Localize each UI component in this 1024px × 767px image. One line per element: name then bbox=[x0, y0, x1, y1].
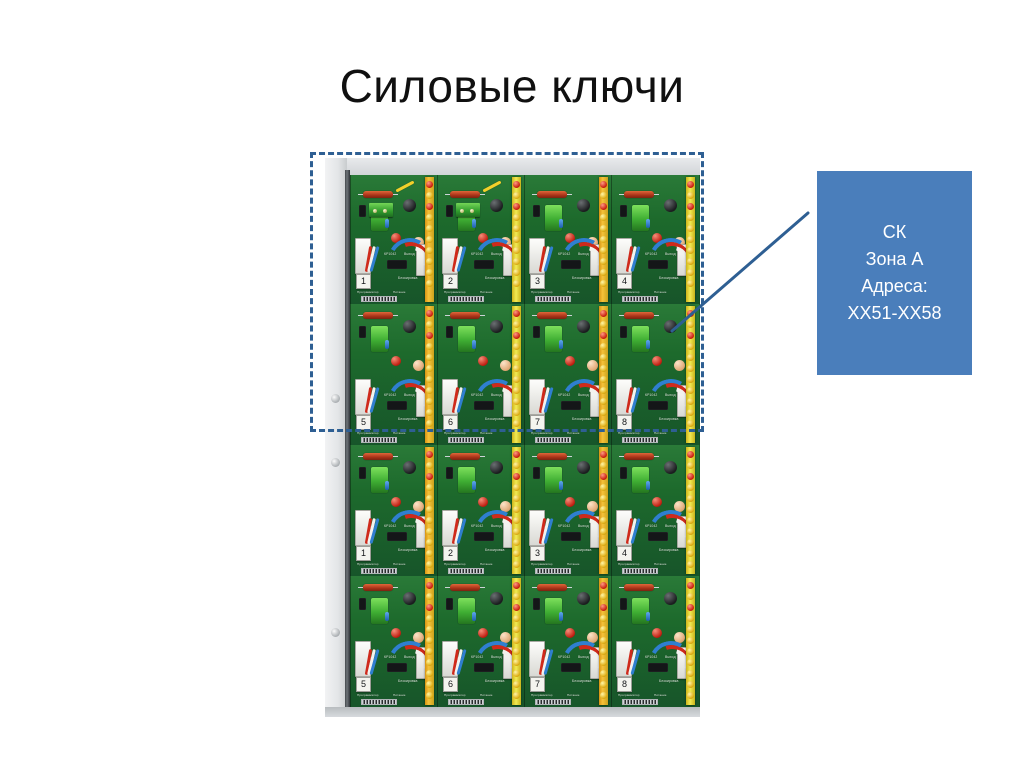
electrolytic-capacitor bbox=[403, 199, 416, 212]
silkscreen-blocking-label: Блокировка bbox=[398, 417, 417, 421]
silkscreen-blocking-label: Блокировка bbox=[485, 548, 504, 552]
terminal-strip bbox=[425, 447, 434, 574]
terminal-contact bbox=[600, 539, 607, 546]
terminal-contact bbox=[426, 420, 433, 427]
silkscreen-output-label: Выход bbox=[578, 252, 589, 256]
terminal-contact bbox=[687, 517, 694, 524]
ic-chip bbox=[387, 401, 407, 410]
terminal-contact bbox=[513, 181, 520, 188]
silkscreen-blocking-label: Блокировка bbox=[485, 679, 504, 683]
silkscreen-programmer-label: Программатор bbox=[357, 290, 379, 294]
transistor bbox=[533, 598, 540, 610]
red-capacitor bbox=[565, 497, 575, 507]
transistor bbox=[446, 326, 453, 338]
module-number-tag: 5 bbox=[356, 677, 371, 692]
tan-capacitor bbox=[587, 501, 598, 512]
pin-header bbox=[535, 699, 571, 705]
silkscreen-programmer-label: Программатор bbox=[531, 562, 553, 566]
terminal-contact bbox=[513, 517, 520, 524]
terminal-contact bbox=[426, 604, 433, 611]
silkscreen-chip-label: КР1042 bbox=[384, 393, 396, 397]
screw bbox=[331, 628, 340, 637]
terminal-strip bbox=[425, 177, 434, 302]
terminal-contact bbox=[426, 681, 433, 688]
green-terminal-block bbox=[456, 203, 480, 217]
silkscreen-power-label: Питание bbox=[393, 431, 406, 435]
pin-header bbox=[622, 437, 658, 443]
board-panel: 5КР1042ВыходБлокировкаПрограмматорПитани… bbox=[350, 304, 700, 445]
terminal-contact bbox=[426, 539, 433, 546]
red-capacitor bbox=[391, 233, 401, 243]
terminal-contact bbox=[426, 517, 433, 524]
pin-header bbox=[535, 296, 571, 302]
silkscreen-blocking-label: Блокировка bbox=[398, 548, 417, 552]
transistor bbox=[620, 205, 627, 217]
page-title: Силовые ключи bbox=[0, 58, 1024, 114]
terminal-strip bbox=[512, 447, 521, 574]
silkscreen-blocking-label: Блокировка bbox=[572, 679, 591, 683]
board-panel: 5КР1042ВыходБлокировкаПрограмматорПитани… bbox=[350, 576, 700, 707]
pin-header bbox=[448, 699, 484, 705]
resistor bbox=[624, 584, 654, 591]
blue-component bbox=[646, 340, 650, 349]
silkscreen-chip-label: КР1042 bbox=[558, 655, 570, 659]
silkscreen-output-label: Выход bbox=[491, 655, 502, 659]
electrolytic-capacitor bbox=[403, 592, 416, 605]
terminal-contact bbox=[600, 365, 607, 372]
blue-component bbox=[559, 340, 563, 349]
silkscreen-blocking-label: Блокировка bbox=[659, 417, 678, 421]
silkscreen-chip-label: КР1042 bbox=[384, 252, 396, 256]
pin-header bbox=[361, 437, 397, 443]
terminal-contact bbox=[513, 528, 520, 535]
blue-component bbox=[385, 612, 389, 621]
tan-capacitor bbox=[500, 501, 511, 512]
tan-capacitor bbox=[587, 360, 598, 371]
terminal-contact bbox=[513, 462, 520, 469]
silkscreen-programmer-label: Программатор bbox=[444, 431, 466, 435]
blue-component bbox=[646, 612, 650, 621]
terminal-contact bbox=[687, 659, 694, 666]
terminal-contact bbox=[687, 409, 694, 416]
tan-capacitor bbox=[500, 360, 511, 371]
silkscreen-power-label: Питание bbox=[393, 290, 406, 294]
red-capacitor bbox=[478, 356, 488, 366]
silkscreen-power-label: Питание bbox=[393, 562, 406, 566]
terminal-strip bbox=[599, 447, 608, 574]
terminal-contact bbox=[600, 506, 607, 513]
terminal-contact bbox=[687, 506, 694, 513]
pin-header bbox=[535, 568, 571, 574]
terminal-contact bbox=[426, 409, 433, 416]
terminal-contact bbox=[687, 539, 694, 546]
terminal-contact bbox=[513, 236, 520, 243]
terminal-contact bbox=[426, 214, 433, 221]
terminal-contact bbox=[687, 626, 694, 633]
silkscreen-output-label: Выход bbox=[491, 393, 502, 397]
blue-component bbox=[559, 481, 563, 490]
terminal-contact bbox=[426, 626, 433, 633]
red-capacitor bbox=[478, 497, 488, 507]
terminal-contact bbox=[513, 225, 520, 232]
callout-line-3: Адреса: bbox=[847, 273, 941, 300]
terminal-contact bbox=[426, 615, 433, 622]
silkscreen-programmer-label: Программатор bbox=[444, 562, 466, 566]
resistor bbox=[363, 453, 393, 460]
terminal-contact bbox=[687, 593, 694, 600]
terminal-strip bbox=[599, 306, 608, 443]
silkscreen-chip-label: КР1042 bbox=[471, 252, 483, 256]
tan-capacitor bbox=[413, 360, 424, 371]
terminal-contact bbox=[513, 539, 520, 546]
terminal-contact bbox=[687, 582, 694, 589]
terminal-contact bbox=[600, 321, 607, 328]
terminal-contact bbox=[513, 626, 520, 633]
ic-chip bbox=[387, 532, 407, 541]
module-number-tag: 8 bbox=[617, 415, 632, 430]
terminal-contact bbox=[513, 670, 520, 677]
terminal-contact bbox=[513, 376, 520, 383]
silkscreen-chip-label: КР1042 bbox=[384, 524, 396, 528]
silkscreen-programmer-label: Программатор bbox=[618, 693, 640, 697]
silkscreen-programmer-label: Программатор bbox=[444, 290, 466, 294]
module-number-tag: 7 bbox=[530, 415, 545, 430]
terminal-contact bbox=[687, 451, 694, 458]
terminal-contact bbox=[513, 387, 520, 394]
terminal-contact bbox=[426, 192, 433, 199]
tan-capacitor bbox=[413, 501, 424, 512]
pin-header bbox=[448, 437, 484, 443]
silkscreen-programmer-label: Программатор bbox=[357, 431, 379, 435]
terminal-contact bbox=[513, 506, 520, 513]
module-number-tag: 2 bbox=[443, 274, 458, 289]
terminal-contact bbox=[600, 615, 607, 622]
terminal-contact bbox=[600, 484, 607, 491]
module-number-tag: 3 bbox=[530, 274, 545, 289]
silkscreen-power-label: Питание bbox=[567, 693, 580, 697]
resistor bbox=[450, 584, 480, 591]
module-number-tag: 3 bbox=[530, 546, 545, 561]
terminal-contact bbox=[600, 692, 607, 699]
transistor bbox=[446, 205, 453, 217]
terminal-contact bbox=[687, 692, 694, 699]
silkscreen-blocking-label: Блокировка bbox=[659, 548, 678, 552]
terminal-contact bbox=[600, 582, 607, 589]
pin-header bbox=[535, 437, 571, 443]
silkscreen-blocking-label: Блокировка bbox=[572, 276, 591, 280]
power-switch-boards-photo: 1КР1042ВыходБлокировкаПрограмматорПитани… bbox=[325, 158, 700, 717]
blue-component bbox=[385, 219, 389, 228]
screw bbox=[331, 458, 340, 467]
tan-capacitor bbox=[674, 360, 685, 371]
terminal-contact bbox=[600, 354, 607, 361]
terminal-contact bbox=[513, 550, 520, 557]
terminal-contact bbox=[600, 192, 607, 199]
silkscreen-blocking-label: Блокировка bbox=[485, 417, 504, 421]
terminal-contact bbox=[600, 332, 607, 339]
blue-component bbox=[385, 340, 389, 349]
terminal-contact bbox=[426, 473, 433, 480]
terminal-contact bbox=[513, 484, 520, 491]
terminal-contact bbox=[600, 517, 607, 524]
terminal-contact bbox=[426, 236, 433, 243]
blue-component bbox=[646, 481, 650, 490]
silkscreen-chip-label: КР1042 bbox=[471, 524, 483, 528]
blue-component bbox=[646, 219, 650, 228]
terminal-contact bbox=[600, 181, 607, 188]
terminal-contact bbox=[426, 648, 433, 655]
silkscreen-power-label: Питание bbox=[480, 562, 493, 566]
electrolytic-capacitor bbox=[577, 592, 590, 605]
silkscreen-programmer-label: Программатор bbox=[357, 562, 379, 566]
terminal-strip bbox=[599, 177, 608, 302]
resistor bbox=[537, 191, 567, 198]
terminal-contact bbox=[600, 258, 607, 265]
terminal-contact bbox=[513, 692, 520, 699]
terminal-contact bbox=[513, 495, 520, 502]
ic-chip bbox=[561, 401, 581, 410]
terminal-strip bbox=[686, 447, 695, 574]
ic-chip bbox=[474, 401, 494, 410]
zone-a-callout[interactable]: СК Зона А Адреса: XX51-XX58 bbox=[817, 171, 972, 375]
board-panel: 1КР1042ВыходБлокировкаПрограмматорПитани… bbox=[350, 445, 700, 576]
silkscreen-chip-label: КР1042 bbox=[645, 655, 657, 659]
tan-capacitor bbox=[587, 632, 598, 643]
silkscreen-blocking-label: Блокировка bbox=[398, 276, 417, 280]
terminal-contact bbox=[600, 214, 607, 221]
transistor bbox=[620, 467, 627, 479]
terminal-contact bbox=[426, 593, 433, 600]
terminal-contact bbox=[600, 247, 607, 254]
silkscreen-blocking-label: Блокировка bbox=[485, 276, 504, 280]
transistor bbox=[620, 598, 627, 610]
transistor bbox=[359, 205, 366, 217]
terminal-contact bbox=[513, 247, 520, 254]
terminal-contact bbox=[687, 528, 694, 535]
ic-chip bbox=[648, 663, 668, 672]
terminal-contact bbox=[426, 332, 433, 339]
ic-chip bbox=[561, 663, 581, 672]
module-number-tag: 8 bbox=[617, 677, 632, 692]
silkscreen-output-label: Выход bbox=[578, 655, 589, 659]
terminal-contact bbox=[600, 343, 607, 350]
module-number-tag: 6 bbox=[443, 415, 458, 430]
silkscreen-programmer-label: Программатор bbox=[444, 693, 466, 697]
resistor bbox=[450, 191, 480, 198]
pin-header bbox=[622, 568, 658, 574]
tan-capacitor bbox=[500, 632, 511, 643]
ic-chip bbox=[387, 260, 407, 269]
red-capacitor bbox=[391, 356, 401, 366]
module-number-tag: 4 bbox=[617, 274, 632, 289]
silkscreen-output-label: Выход bbox=[404, 524, 415, 528]
terminal-contact bbox=[513, 659, 520, 666]
screw bbox=[331, 394, 340, 403]
resistor bbox=[363, 312, 393, 319]
terminal-strip bbox=[425, 578, 434, 705]
terminal-contact bbox=[513, 637, 520, 644]
terminal-contact bbox=[600, 626, 607, 633]
silkscreen-programmer-label: Программатор bbox=[357, 693, 379, 697]
terminal-contact bbox=[513, 214, 520, 221]
silkscreen-blocking-label: Блокировка bbox=[398, 679, 417, 683]
silkscreen-output-label: Выход bbox=[578, 393, 589, 397]
red-capacitor bbox=[478, 628, 488, 638]
resistor bbox=[624, 191, 654, 198]
terminal-contact bbox=[600, 473, 607, 480]
terminal-contact bbox=[687, 420, 694, 427]
chassis-bottom-edge bbox=[325, 707, 700, 717]
terminal-contact bbox=[687, 495, 694, 502]
pin-header bbox=[361, 568, 397, 574]
terminal-contact bbox=[426, 203, 433, 210]
red-capacitor bbox=[652, 628, 662, 638]
terminal-contact bbox=[600, 387, 607, 394]
terminal-contact bbox=[687, 550, 694, 557]
electrolytic-capacitor bbox=[577, 199, 590, 212]
silkscreen-programmer-label: Программатор bbox=[618, 431, 640, 435]
terminal-contact bbox=[513, 365, 520, 372]
terminal-contact bbox=[600, 495, 607, 502]
silkscreen-programmer-label: Программатор bbox=[618, 562, 640, 566]
terminal-contact bbox=[600, 420, 607, 427]
terminal-contact bbox=[687, 398, 694, 405]
yellow-wire bbox=[482, 180, 501, 192]
silkscreen-output-label: Выход bbox=[491, 524, 502, 528]
terminal-contact bbox=[426, 280, 433, 287]
electrolytic-capacitor bbox=[490, 592, 503, 605]
terminal-contact bbox=[513, 203, 520, 210]
terminal-contact bbox=[687, 484, 694, 491]
terminal-contact bbox=[426, 692, 433, 699]
tan-capacitor bbox=[413, 632, 424, 643]
terminal-contact bbox=[687, 670, 694, 677]
ic-chip bbox=[561, 260, 581, 269]
terminal-contact bbox=[687, 561, 694, 568]
ic-chip bbox=[648, 401, 668, 410]
silkscreen-power-label: Питание bbox=[393, 693, 406, 697]
resistor bbox=[363, 191, 393, 198]
terminal-contact bbox=[513, 593, 520, 600]
terminal-contact bbox=[513, 343, 520, 350]
terminal-contact bbox=[426, 670, 433, 677]
yellow-wire bbox=[395, 180, 414, 192]
terminal-strip bbox=[686, 578, 695, 705]
blue-component bbox=[559, 219, 563, 228]
terminal-contact bbox=[513, 332, 520, 339]
transistor bbox=[446, 467, 453, 479]
silkscreen-output-label: Выход bbox=[665, 524, 676, 528]
silkscreen-chip-label: КР1042 bbox=[471, 393, 483, 397]
resistor bbox=[363, 584, 393, 591]
terminal-contact bbox=[426, 269, 433, 276]
board-panel: 1КР1042ВыходБлокировкаПрограмматорПитани… bbox=[350, 175, 700, 304]
terminal-contact bbox=[600, 376, 607, 383]
silkscreen-power-label: Питание bbox=[654, 693, 667, 697]
red-capacitor bbox=[391, 628, 401, 638]
terminal-contact bbox=[513, 321, 520, 328]
terminal-contact bbox=[513, 310, 520, 317]
red-capacitor bbox=[478, 233, 488, 243]
terminal-contact bbox=[687, 648, 694, 655]
pin-header bbox=[622, 699, 658, 705]
transistor bbox=[533, 205, 540, 217]
blue-component bbox=[559, 612, 563, 621]
silkscreen-chip-label: КР1042 bbox=[645, 393, 657, 397]
transistor bbox=[359, 467, 366, 479]
blue-component bbox=[472, 481, 476, 490]
terminal-contact bbox=[426, 343, 433, 350]
terminal-contact bbox=[426, 398, 433, 405]
module-number-tag: 7 bbox=[530, 677, 545, 692]
resistor bbox=[450, 312, 480, 319]
module-number-tag: 6 bbox=[443, 677, 458, 692]
silkscreen-blocking-label: Блокировка bbox=[572, 548, 591, 552]
terminal-contact bbox=[687, 387, 694, 394]
electrolytic-capacitor bbox=[403, 320, 416, 333]
pin-header bbox=[448, 568, 484, 574]
terminal-contact bbox=[426, 484, 433, 491]
terminal-contact bbox=[426, 451, 433, 458]
terminal-contact bbox=[600, 648, 607, 655]
callout-leader-line bbox=[660, 195, 820, 345]
terminal-contact bbox=[687, 473, 694, 480]
module-number-tag: 4 bbox=[617, 546, 632, 561]
terminal-contact bbox=[426, 495, 433, 502]
terminal-contact bbox=[513, 409, 520, 416]
terminal-strip bbox=[425, 306, 434, 443]
terminal-contact bbox=[600, 604, 607, 611]
terminal-contact bbox=[600, 561, 607, 568]
terminal-strip bbox=[599, 578, 608, 705]
resistor bbox=[537, 584, 567, 591]
ic-chip bbox=[474, 532, 494, 541]
terminal-contact bbox=[426, 506, 433, 513]
terminal-contact bbox=[600, 236, 607, 243]
terminal-contact bbox=[426, 310, 433, 317]
tan-capacitor bbox=[674, 501, 685, 512]
red-capacitor bbox=[565, 628, 575, 638]
terminal-contact bbox=[513, 192, 520, 199]
pin-header bbox=[448, 296, 484, 302]
terminal-contact bbox=[687, 615, 694, 622]
module-number-tag: 1 bbox=[356, 274, 371, 289]
silkscreen-output-label: Выход bbox=[665, 393, 676, 397]
module-number-tag: 5 bbox=[356, 415, 371, 430]
terminal-contact bbox=[513, 354, 520, 361]
silkscreen-chip-label: КР1042 bbox=[558, 252, 570, 256]
silkscreen-power-label: Питание bbox=[567, 431, 580, 435]
terminal-contact bbox=[513, 451, 520, 458]
electrolytic-capacitor bbox=[577, 461, 590, 474]
callout-line-1: СК bbox=[847, 219, 941, 246]
terminal-contact bbox=[513, 561, 520, 568]
terminal-contact bbox=[426, 659, 433, 666]
callout-line-4: XX51-XX58 bbox=[847, 300, 941, 327]
callout-line-2: Зона А bbox=[847, 246, 941, 273]
terminal-contact bbox=[600, 550, 607, 557]
terminal-contact bbox=[600, 310, 607, 317]
silkscreen-output-label: Выход bbox=[578, 524, 589, 528]
pin-header bbox=[361, 699, 397, 705]
transistor bbox=[620, 326, 627, 338]
silkscreen-power-label: Питание bbox=[567, 290, 580, 294]
silkscreen-chip-label: КР1042 bbox=[558, 393, 570, 397]
silkscreen-power-label: Питание bbox=[480, 693, 493, 697]
pin-header bbox=[622, 296, 658, 302]
terminal-contact bbox=[426, 561, 433, 568]
terminal-contact bbox=[513, 604, 520, 611]
